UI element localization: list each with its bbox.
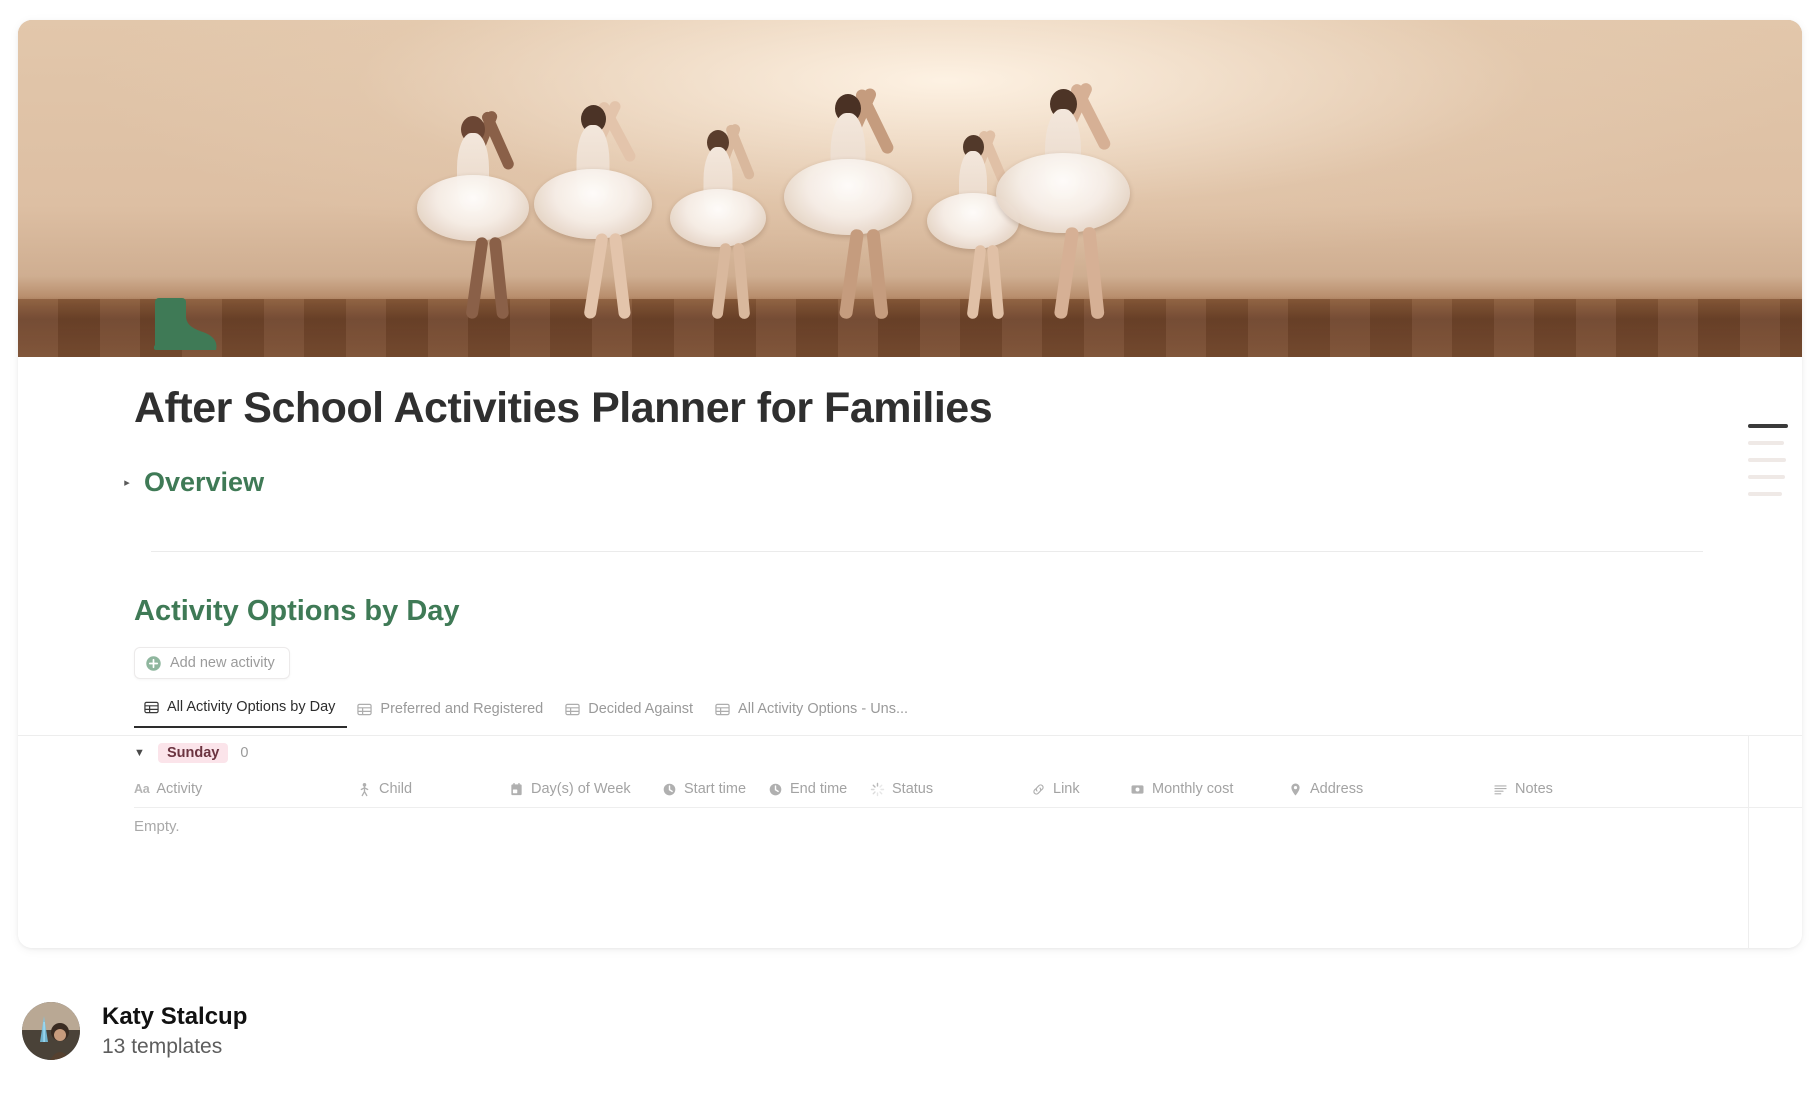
group-badge-sunday: Sunday <box>158 743 228 763</box>
table-empty-row[interactable]: Empty. <box>134 809 180 843</box>
column-header-days-of-week[interactable]: Day(s) of Week <box>509 771 631 807</box>
table-icon <box>565 702 580 717</box>
author-footer[interactable]: Katy Stalcup 13 templates <box>22 1002 247 1060</box>
spinner-icon <box>870 782 885 797</box>
plus-circle-icon <box>145 655 162 672</box>
clock-icon <box>768 782 783 797</box>
tab-label: All Activity Options by Day <box>167 699 335 715</box>
author-text: Katy Stalcup 13 templates <box>102 1003 247 1059</box>
column-label: Address <box>1310 781 1363 797</box>
ice-skate-icon[interactable] <box>144 292 218 358</box>
template-preview-card[interactable]: After School Activities Planner for Fami… <box>18 20 1802 948</box>
view-tabs: All Activity Options by Day Preferred an… <box>134 695 920 728</box>
section-divider <box>151 551 1703 552</box>
person-icon <box>357 782 372 797</box>
group-count: 0 <box>240 745 248 761</box>
toc-line[interactable] <box>1748 441 1784 445</box>
overview-toggle-label: Overview <box>144 467 264 498</box>
table-icon <box>144 700 159 715</box>
column-header-monthly-cost[interactable]: Monthly cost <box>1130 771 1233 807</box>
tab-decided-against[interactable]: Decided Against <box>555 697 705 728</box>
overview-toggle[interactable]: ▸ Overview <box>120 467 264 498</box>
column-label: Link <box>1053 781 1080 797</box>
author-template-count: 13 templates <box>102 1035 247 1059</box>
toc-line[interactable] <box>1748 492 1782 496</box>
column-label: Start time <box>684 781 746 797</box>
currency-icon <box>1130 782 1145 797</box>
empty-row-label: Empty. <box>134 818 180 835</box>
clock-icon <box>662 782 677 797</box>
table-of-contents-indicator[interactable] <box>1748 424 1792 496</box>
column-header-child[interactable]: Child <box>357 771 412 807</box>
table-row-rule <box>134 807 1802 808</box>
column-label: Status <box>892 781 933 797</box>
page-body: After School Activities Planner for Fami… <box>18 357 1802 948</box>
column-label: End time <box>790 781 847 797</box>
tab-label: Decided Against <box>588 701 693 717</box>
column-header-link[interactable]: Link <box>1031 771 1080 807</box>
column-header-notes[interactable]: Notes <box>1493 771 1553 807</box>
chevron-right-icon[interactable]: ▸ <box>120 476 134 490</box>
column-label: Notes <box>1515 781 1553 797</box>
column-label: Activity <box>156 781 202 797</box>
page-title: After School Activities Planner for Fami… <box>134 384 992 433</box>
toc-line-active[interactable] <box>1748 424 1788 428</box>
table-column-headers: Aa Activity Child <box>18 771 1802 807</box>
calendar-icon <box>509 782 524 797</box>
column-label: Child <box>379 781 412 797</box>
toc-line[interactable] <box>1748 475 1785 479</box>
column-header-end-time[interactable]: End time <box>768 771 847 807</box>
chevron-down-icon[interactable]: ▼ <box>134 747 146 759</box>
column-label: Day(s) of Week <box>531 781 631 797</box>
table-icon <box>715 702 730 717</box>
cover-image <box>18 20 1802 357</box>
table-right-edge <box>1748 735 1749 948</box>
tab-preferred-and-registered[interactable]: Preferred and Registered <box>347 697 555 728</box>
tab-all-activity-options-unsorted[interactable]: All Activity Options - Uns... <box>705 697 920 728</box>
text-lines-icon <box>1493 782 1508 797</box>
author-name: Katy Stalcup <box>102 1003 247 1031</box>
tab-label: All Activity Options - Uns... <box>738 701 908 717</box>
table-top-rule <box>18 735 1802 736</box>
tab-label: Preferred and Registered <box>380 701 543 717</box>
table-icon <box>357 702 372 717</box>
column-header-address[interactable]: Address <box>1288 771 1363 807</box>
column-header-activity[interactable]: Aa Activity <box>134 771 202 807</box>
column-header-start-time[interactable]: Start time <box>662 771 746 807</box>
text-aa-icon: Aa <box>134 782 149 796</box>
avatar[interactable] <box>22 1002 80 1060</box>
add-new-activity-label: Add new activity <box>170 655 275 671</box>
column-label: Monthly cost <box>1152 781 1233 797</box>
cover-floor <box>18 299 1802 357</box>
group-row-sunday[interactable]: ▼ Sunday 0 <box>134 743 248 763</box>
section-heading: Activity Options by Day <box>134 595 460 628</box>
map-pin-icon <box>1288 782 1303 797</box>
toc-line[interactable] <box>1748 458 1786 462</box>
chain-link-icon <box>1031 782 1046 797</box>
tab-all-activity-options-by-day[interactable]: All Activity Options by Day <box>134 695 347 728</box>
column-header-status[interactable]: Status <box>870 771 933 807</box>
add-new-activity-button[interactable]: Add new activity <box>134 647 290 679</box>
